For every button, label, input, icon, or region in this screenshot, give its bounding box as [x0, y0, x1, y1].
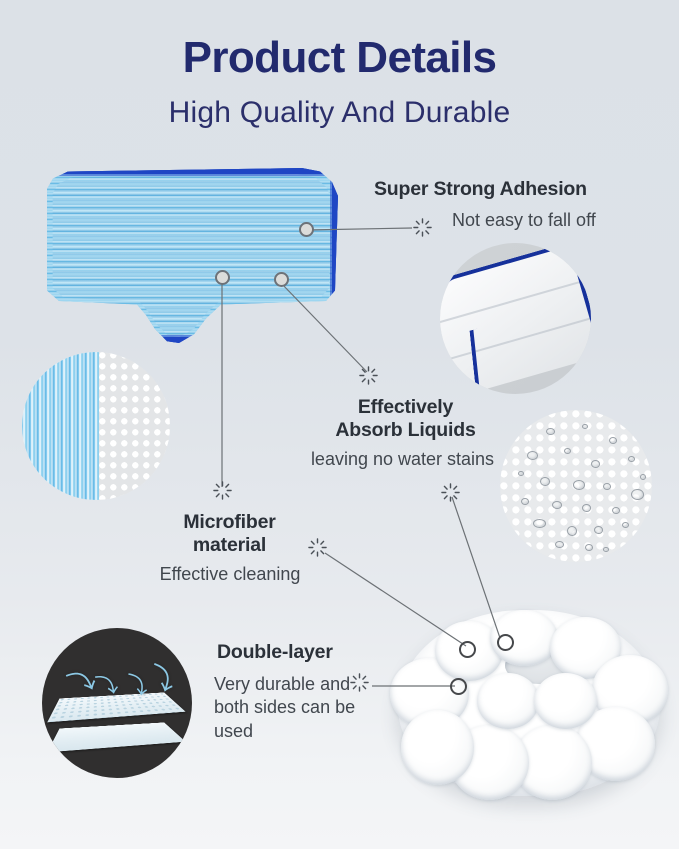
sparkle-icon	[413, 218, 432, 237]
callout-title-line-1: Microfiber	[163, 511, 296, 534]
callout-subtitle-super-strong-adhesion: Not easy to fall off	[452, 209, 596, 232]
callout-marker-icon[interactable]	[215, 270, 230, 285]
sparkle-icon	[359, 366, 378, 385]
inset-microfiber-closeup	[22, 352, 170, 500]
water-droplet-icon	[628, 456, 635, 462]
sparkle-icon	[441, 483, 460, 502]
water-droplet-icon	[573, 480, 585, 490]
page-title: Product Details	[0, 33, 679, 83]
callout-title-line-2: material	[163, 534, 296, 557]
water-droplet-icon	[540, 477, 550, 486]
ruffle-lobe	[534, 673, 597, 729]
water-droplet-icon	[521, 498, 529, 505]
callout-subtitle-effectively-absorb-liquids: leaving no water stains	[310, 448, 495, 471]
water-droplet-icon	[567, 526, 577, 536]
callout-title-microfiber-material: Microfiber material	[163, 511, 296, 557]
callout-title-line-1: Effectively	[318, 396, 493, 419]
layer-bottom-sheet	[47, 722, 185, 752]
water-droplet-icon	[555, 541, 564, 548]
water-droplet-icon	[527, 451, 538, 460]
water-droplet-icon	[603, 547, 609, 552]
airflow-arrow-icon: ⤵	[94, 673, 120, 698]
inset-water-droplets-closeup	[500, 410, 652, 562]
page-subtitle: High Quality And Durable	[0, 96, 679, 130]
mop-pad-stitched-border	[38, 168, 338, 343]
water-droplet-icon	[518, 471, 524, 476]
water-droplet-icon	[640, 474, 646, 480]
inset-adhesion-closeup	[440, 243, 591, 394]
water-droplet-icon	[609, 437, 617, 444]
inset-double-layer-diagram: ⤵ ⤵ ⤵ ⤵	[42, 628, 192, 778]
white-fleece-half	[99, 352, 170, 500]
ruffle-lobe	[477, 673, 540, 729]
water-droplet-icon	[582, 424, 588, 429]
sparkle-icon	[213, 481, 232, 500]
water-droplet-icon	[622, 522, 629, 528]
water-droplet-icon	[591, 460, 600, 468]
callout-title-line-2: Absorb Liquids	[318, 419, 493, 442]
water-droplet-icon	[533, 519, 546, 528]
sparkle-icon	[308, 538, 327, 557]
water-droplet-icon	[603, 483, 611, 490]
ruffled-pad-image	[398, 596, 660, 804]
blue-microfiber-half	[22, 352, 99, 500]
water-droplet-icon	[585, 544, 593, 551]
callout-marker-icon[interactable]	[299, 222, 314, 237]
callout-marker-icon[interactable]	[459, 641, 476, 658]
water-droplet-icon	[612, 507, 620, 514]
callout-title-super-strong-adhesion: Super Strong Adhesion	[374, 178, 587, 201]
callout-marker-icon[interactable]	[497, 634, 514, 651]
callout-marker-icon[interactable]	[274, 272, 289, 287]
callout-title-effectively-absorb-liquids: Effectively Absorb Liquids	[318, 396, 493, 442]
water-droplet-icon	[564, 448, 571, 454]
ruffle-lobe	[401, 710, 474, 784]
water-droplet-icon	[546, 428, 555, 435]
water-droplet-icon	[552, 501, 562, 509]
layer-top-sheet	[47, 692, 185, 722]
airflow-arrow-icon: ⤵	[145, 662, 178, 695]
callout-subtitle-microfiber-material: Effective cleaning	[134, 563, 326, 586]
callout-title-double-layer: Double-layer	[217, 641, 333, 664]
callout-marker-icon[interactable]	[450, 678, 467, 695]
main-mop-pad-image	[38, 168, 338, 343]
water-droplet-icon	[582, 504, 591, 512]
water-droplet-icon	[631, 489, 644, 500]
ruffled-pad-body	[398, 610, 660, 796]
water-droplet-icon	[594, 526, 603, 534]
airflow-arrow-icon: ⤵	[65, 664, 99, 698]
callout-subtitle-double-layer: Very durable and both sides can be used	[214, 673, 359, 743]
infographic-canvas: Product Details High Quality And Durable…	[0, 0, 679, 849]
